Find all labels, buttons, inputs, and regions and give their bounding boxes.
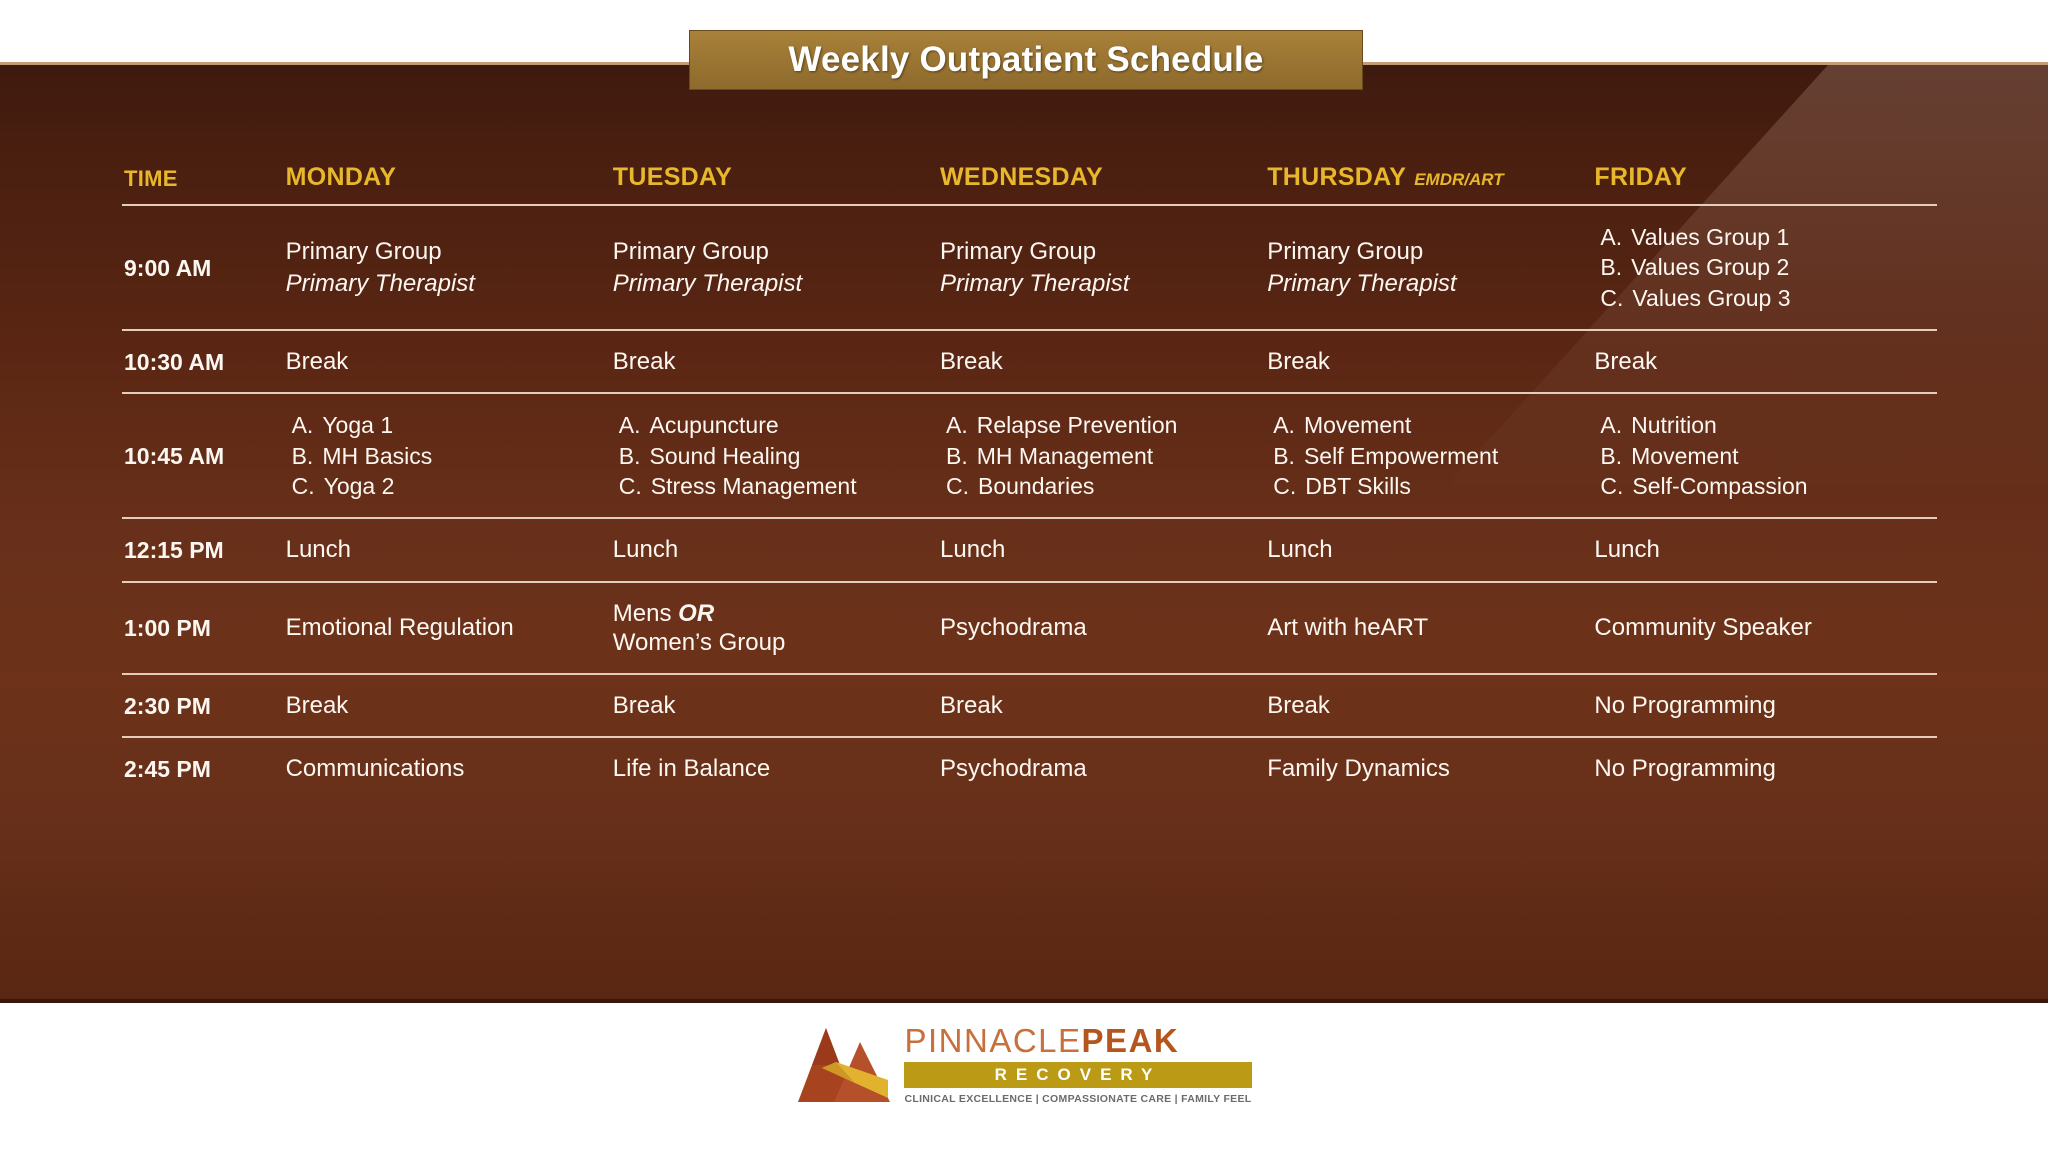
cell-sub-text: Primary Therapist <box>940 269 1253 298</box>
item-letter: A. <box>292 410 314 440</box>
column-header-friday: FRIDAY <box>1594 163 1937 205</box>
row-time-2: 10:45 AM <box>122 393 286 518</box>
cell-friday-5: No Programming <box>1594 674 1937 737</box>
item-text: DBT Skills <box>1305 471 1411 501</box>
cell-wednesday-1: Break <box>940 330 1267 393</box>
cell-thursday-1: Break <box>1267 330 1594 393</box>
logo-text-pinnacle: PINNACLE <box>904 1022 1081 1059</box>
mountain-logo-icon <box>796 1020 892 1107</box>
cell-friday-4: Community Speaker <box>1594 582 1937 675</box>
cell-tuesday-6: Life in Balance <box>613 737 940 805</box>
column-header-time: TIME <box>122 163 286 205</box>
cell-monday-5: Break <box>286 674 613 737</box>
page-title: Weekly Outpatient Schedule <box>788 40 1263 80</box>
cell-wednesday-6: Psychodrama <box>940 737 1267 805</box>
list-item: A.Nutrition <box>1600 410 1923 440</box>
item-letter: B. <box>292 441 314 471</box>
cell-wednesday-3: Lunch <box>940 518 1267 581</box>
schedule-title-banner: Weekly Outpatient Schedule <box>689 30 1363 90</box>
logo-text-peak: PEAK <box>1082 1022 1180 1059</box>
table-row: 9:00 AM Primary Group Primary Therapist … <box>122 205 1937 330</box>
list-item: A.Values Group 1 <box>1600 222 1923 252</box>
list-item: C.Self-Compassion <box>1600 471 1923 501</box>
row-time-5: 2:30 PM <box>122 674 286 737</box>
header-row: TIME MONDAY TUESDAY WEDNESDAY THURSDAYEM… <box>122 163 1937 205</box>
item-text: Values Group 2 <box>1631 252 1789 282</box>
list-item: B.Values Group 2 <box>1600 252 1923 282</box>
item-letter: B. <box>946 441 968 471</box>
cell-main-text: Primary Group <box>613 238 769 265</box>
item-text: Values Group 3 <box>1632 283 1790 313</box>
item-letter: A. <box>1600 222 1622 252</box>
cell-tuesday-2: A.Acupuncture B.Sound Healing C.Stress M… <box>613 393 940 518</box>
list-item: B.Movement <box>1600 441 1923 471</box>
cell-sub-text: Primary Therapist <box>1267 269 1580 298</box>
day-label-thursday: THURSDAY <box>1267 163 1406 191</box>
table-body: 9:00 AM Primary Group Primary Therapist … <box>122 205 1937 806</box>
list-item: A.Yoga 1 <box>292 410 599 440</box>
item-letter: B. <box>619 441 641 471</box>
item-letter: C. <box>1600 471 1623 501</box>
item-text: Boundaries <box>978 471 1094 501</box>
item-letter: C. <box>292 471 315 501</box>
cell-main-text: Primary Group <box>1267 238 1423 265</box>
list-item: A.Movement <box>1273 410 1580 440</box>
cell-or-word: OR <box>678 600 714 627</box>
column-header-tuesday: TUESDAY <box>613 163 940 205</box>
day-label-wednesday: WEDNESDAY <box>940 163 1103 191</box>
list-item: C.Values Group 3 <box>1600 283 1923 313</box>
item-letter: C. <box>946 471 969 501</box>
cell-tuesday-5: Break <box>613 674 940 737</box>
cell-friday-0: A.Values Group 1 B.Values Group 2 C.Valu… <box>1594 205 1937 330</box>
list-item: B.MH Management <box>946 441 1253 471</box>
list-item: B.Self Empowerment <box>1273 441 1580 471</box>
footer-logo: PINNACLEPEAK RECOVERY CLINICAL EXCELLENC… <box>0 1020 2048 1107</box>
logo-text-recovery: RECOVERY <box>910 1065 1245 1085</box>
item-text: Sound Healing <box>650 441 801 471</box>
list-item: C.Stress Management <box>619 471 926 501</box>
row-time-3: 12:15 PM <box>122 518 286 581</box>
item-letter: B. <box>1600 252 1622 282</box>
cell-sub-text: Primary Therapist <box>286 269 599 298</box>
item-letter: C. <box>619 471 642 501</box>
cell-wednesday-0: Primary Group Primary Therapist <box>940 205 1267 330</box>
cell-thursday-6: Family Dynamics <box>1267 737 1594 805</box>
cell-friday-2: A.Nutrition B.Movement C.Self-Compassion <box>1594 393 1937 518</box>
cell-monday-1: Break <box>286 330 613 393</box>
schedule-panel: TIME MONDAY TUESDAY WEDNESDAY THURSDAYEM… <box>0 62 2048 1003</box>
table-header: TIME MONDAY TUESDAY WEDNESDAY THURSDAYEM… <box>122 163 1937 205</box>
cell-thursday-0: Primary Group Primary Therapist <box>1267 205 1594 330</box>
cell-wednesday-5: Break <box>940 674 1267 737</box>
cell-monday-2: A.Yoga 1 B.MH Basics C.Yoga 2 <box>286 393 613 518</box>
cell-tuesday-0: Primary Group Primary Therapist <box>613 205 940 330</box>
item-letter: C. <box>1273 471 1296 501</box>
lettered-list: A.Yoga 1 B.MH Basics C.Yoga 2 <box>286 410 599 501</box>
cell-sub-text: Primary Therapist <box>613 269 926 298</box>
cell-friday-6: No Programming <box>1594 737 1937 805</box>
day-label-tuesday: TUESDAY <box>613 163 732 191</box>
table-row: 2:30 PM Break Break Break Break No Progr… <box>122 674 1937 737</box>
row-time-4: 1:00 PM <box>122 582 286 675</box>
list-item: B.Sound Healing <box>619 441 926 471</box>
cell-friday-3: Lunch <box>1594 518 1937 581</box>
lettered-list: A.Relapse Prevention B.MH Management C.B… <box>940 410 1253 501</box>
lettered-list: A.Nutrition B.Movement C.Self-Compassion <box>1594 410 1923 501</box>
item-letter: A. <box>1600 410 1622 440</box>
item-text: Acupuncture <box>650 410 779 440</box>
cell-thursday-4: Art with heART <box>1267 582 1594 675</box>
item-letter: B. <box>1600 441 1622 471</box>
thursday-modality-note: EMDR/ART <box>1414 170 1503 189</box>
cell-monday-4: Emotional Regulation <box>286 582 613 675</box>
item-letter: C. <box>1600 283 1623 313</box>
item-text: Self-Compassion <box>1632 471 1807 501</box>
table-row: 10:30 AM Break Break Break Break Break <box>122 330 1937 393</box>
item-text: MH Basics <box>322 441 432 471</box>
item-letter: A. <box>1273 410 1295 440</box>
cell-monday-3: Lunch <box>286 518 613 581</box>
weekly-schedule-table: TIME MONDAY TUESDAY WEDNESDAY THURSDAYEM… <box>122 163 1937 806</box>
item-text: Relapse Prevention <box>977 410 1178 440</box>
item-text: Values Group 1 <box>1631 222 1789 252</box>
lettered-list: A.Values Group 1 B.Values Group 2 C.Valu… <box>1594 222 1923 313</box>
item-text: MH Management <box>977 441 1153 471</box>
list-item: A.Relapse Prevention <box>946 410 1253 440</box>
list-item: B.MH Basics <box>292 441 599 471</box>
row-time-0: 9:00 AM <box>122 205 286 330</box>
cell-wednesday-2: A.Relapse Prevention B.MH Management C.B… <box>940 393 1267 518</box>
cell-wednesday-4: Psychodrama <box>940 582 1267 675</box>
logo-recovery-bar: RECOVERY <box>904 1062 1251 1088</box>
cell-thursday-5: Break <box>1267 674 1594 737</box>
row-time-1: 10:30 AM <box>122 330 286 393</box>
item-text: Nutrition <box>1631 410 1717 440</box>
item-text: Movement <box>1631 441 1738 471</box>
cell-line2: Women’s Group <box>613 629 786 656</box>
column-header-monday: MONDAY <box>286 163 613 205</box>
day-label-friday: FRIDAY <box>1594 163 1687 191</box>
logo-tagline: CLINICAL EXCELLENCE | COMPASSIONATE CARE… <box>904 1093 1251 1105</box>
cell-friday-1: Break <box>1594 330 1937 393</box>
item-letter: A. <box>946 410 968 440</box>
table-row: 10:45 AM A.Yoga 1 B.MH Basics C.Yoga 2 A… <box>122 393 1937 518</box>
table-row: 2:45 PM Communications Life in Balance P… <box>122 737 1937 805</box>
cell-tuesday-4: Mens OR Women’s Group <box>613 582 940 675</box>
item-letter: A. <box>619 410 641 440</box>
list-item: A.Acupuncture <box>619 410 926 440</box>
list-item: C.Yoga 2 <box>292 471 599 501</box>
item-text: Yoga 2 <box>324 471 395 501</box>
cell-main-text: Primary Group <box>940 238 1096 265</box>
logo-wordmark: PINNACLEPEAK <box>904 1024 1251 1057</box>
item-text: Self Empowerment <box>1304 441 1498 471</box>
column-header-thursday: THURSDAYEMDR/ART <box>1267 163 1594 205</box>
table-row: 1:00 PM Emotional Regulation Mens OR Wom… <box>122 582 1937 675</box>
cell-monday-6: Communications <box>286 737 613 805</box>
cell-tuesday-1: Break <box>613 330 940 393</box>
cell-main-text: Primary Group <box>286 238 442 265</box>
list-item: C.DBT Skills <box>1273 471 1580 501</box>
row-time-6: 2:45 PM <box>122 737 286 805</box>
cell-thursday-2: A.Movement B.Self Empowerment C.DBT Skil… <box>1267 393 1594 518</box>
cell-monday-0: Primary Group Primary Therapist <box>286 205 613 330</box>
day-label-monday: MONDAY <box>286 163 397 191</box>
cell-thursday-3: Lunch <box>1267 518 1594 581</box>
item-text: Movement <box>1304 410 1411 440</box>
cell-line1: Mens <box>613 600 672 627</box>
lettered-list: A.Movement B.Self Empowerment C.DBT Skil… <box>1267 410 1580 501</box>
item-letter: B. <box>1273 441 1295 471</box>
item-text: Stress Management <box>651 471 857 501</box>
table-row: 12:15 PM Lunch Lunch Lunch Lunch Lunch <box>122 518 1937 581</box>
item-text: Yoga 1 <box>322 410 393 440</box>
cell-tuesday-3: Lunch <box>613 518 940 581</box>
column-header-wednesday: WEDNESDAY <box>940 163 1267 205</box>
lettered-list: A.Acupuncture B.Sound Healing C.Stress M… <box>613 410 926 501</box>
list-item: C.Boundaries <box>946 471 1253 501</box>
